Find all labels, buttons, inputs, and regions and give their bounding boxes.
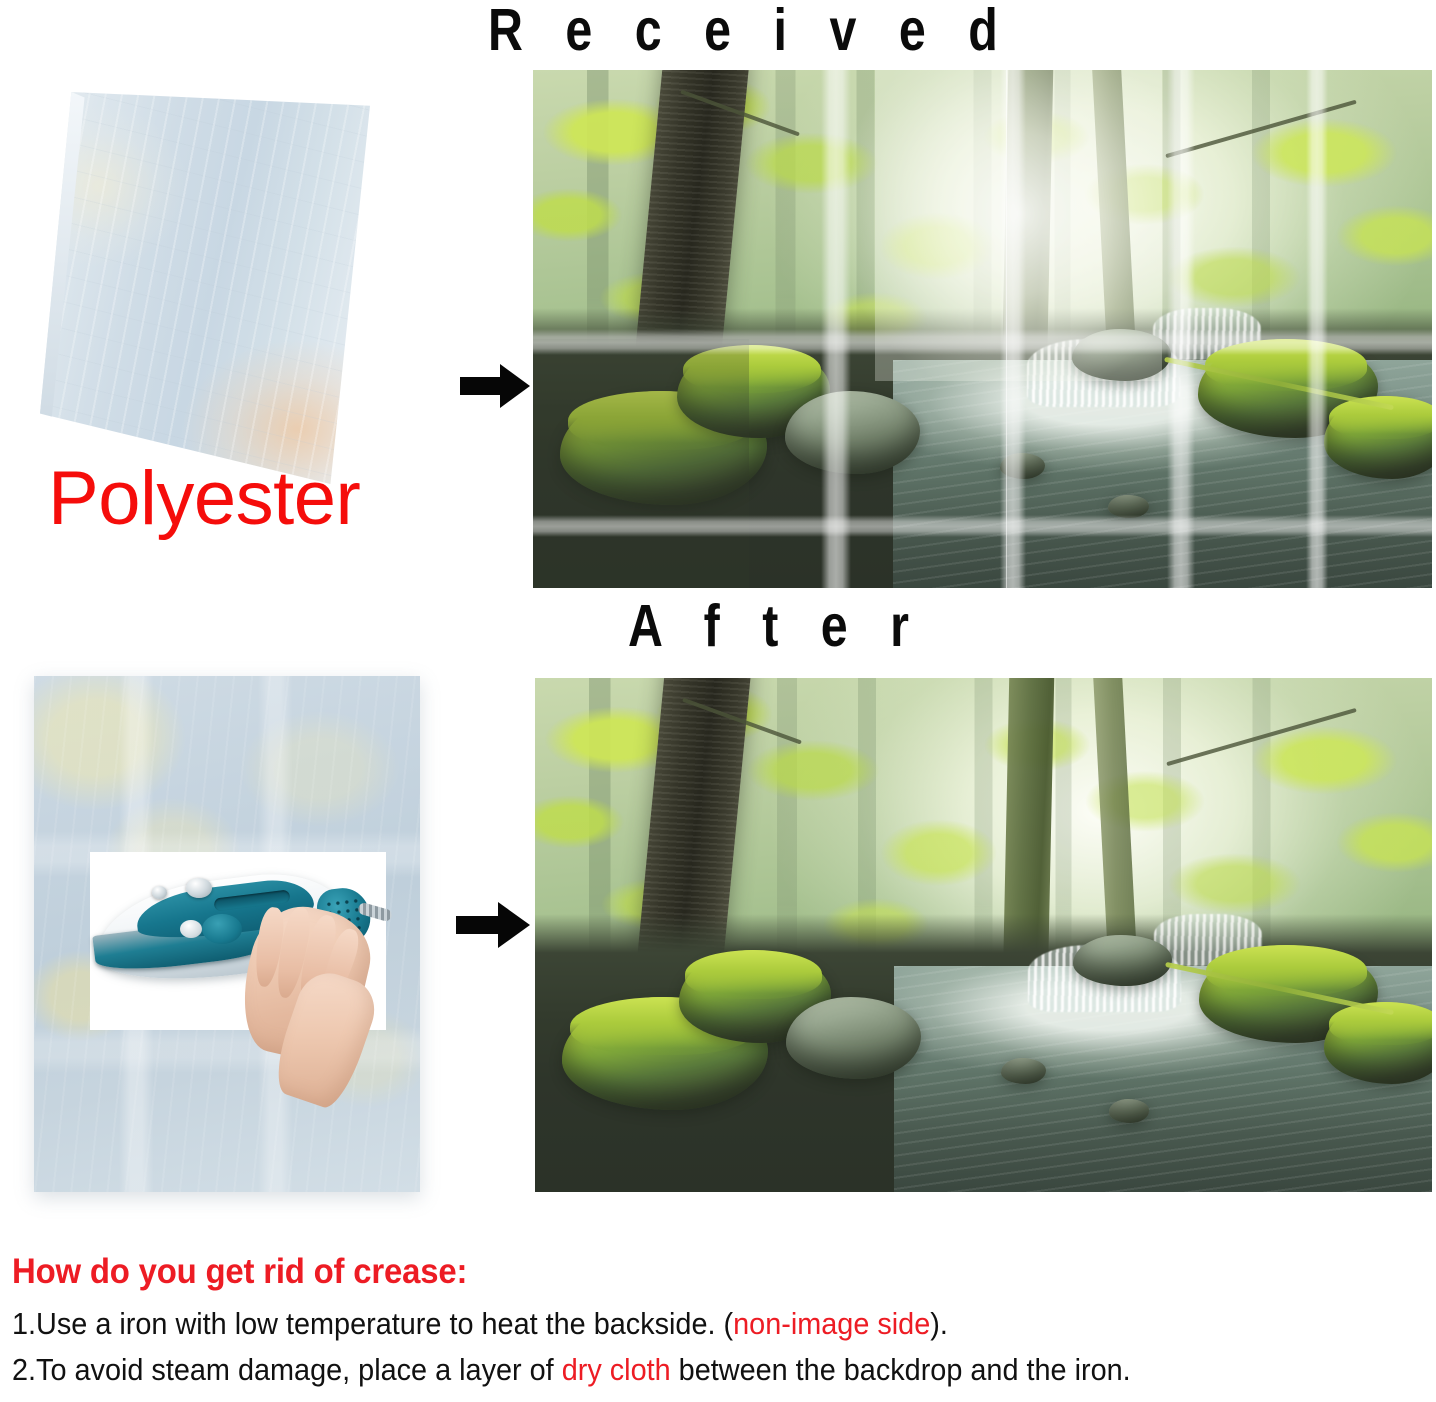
step2-suffix: between the backdrop and the iron. <box>671 1352 1131 1387</box>
step1-suffix: ). <box>930 1306 948 1341</box>
river-stone <box>1109 1099 1149 1122</box>
river-stone <box>1001 1058 1046 1084</box>
step2-highlight: dry cloth <box>562 1352 671 1387</box>
instructions-heading: How do you get rid of crease: <box>12 1252 1345 1292</box>
river-stone <box>1108 495 1148 518</box>
iron-secondary-dial <box>180 920 202 938</box>
after-backdrop-photo <box>535 678 1432 1192</box>
iron-photo-patch <box>90 852 386 1030</box>
infographic-canvas: R e c e i v e d Polyester <box>0 0 1436 1402</box>
steam-iron-illustration <box>90 852 386 1030</box>
mossy-boulder <box>1324 396 1432 479</box>
after-heading: A f t e r <box>628 592 923 660</box>
instruction-step-2: 2.To avoid steam damage, place a layer o… <box>12 1350 1331 1390</box>
fabric-roll-surface <box>40 92 370 484</box>
instruction-step-1: 1.Use a iron with low temperature to hea… <box>12 1304 1331 1344</box>
gray-boulder <box>785 391 920 474</box>
step1-prefix: 1.Use a iron with low temperature to hea… <box>12 1306 733 1341</box>
received-backdrop-photo <box>533 70 1432 588</box>
gray-boulder <box>1072 329 1171 381</box>
received-heading: R e c e i v e d <box>488 0 1012 64</box>
right-arrow-icon <box>460 362 530 410</box>
mossy-boulder <box>1324 1002 1432 1084</box>
iron-steam-knob <box>186 878 212 898</box>
gray-boulder <box>786 997 921 1079</box>
fabric-roll-image <box>18 84 430 494</box>
right-arrow-icon <box>456 900 530 950</box>
iron-temperature-dial <box>202 914 242 944</box>
instructions-block: How do you get rid of crease: 1.Use a ir… <box>10 1252 1430 1395</box>
step1-highlight: non-image side <box>733 1306 930 1341</box>
polyester-label: Polyester <box>48 455 360 542</box>
step2-prefix: 2.To avoid steam damage, place a layer o… <box>12 1352 562 1387</box>
iron-spray-button <box>152 886 167 899</box>
gray-boulder <box>1073 935 1172 986</box>
